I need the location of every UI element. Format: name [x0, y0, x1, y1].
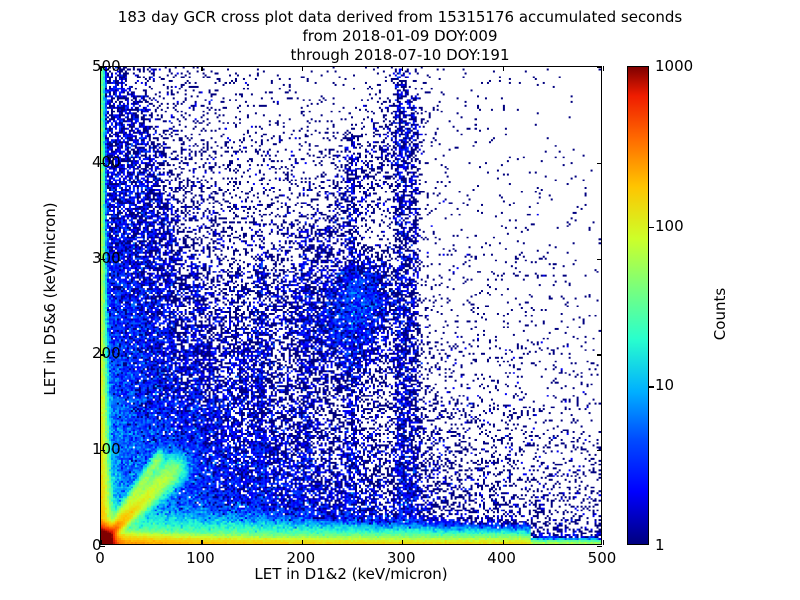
x-tick-bottom [402, 540, 403, 545]
y-tick-right [597, 163, 602, 164]
colorbar [627, 66, 649, 545]
x-tick-top [402, 66, 403, 71]
density-plot-area [101, 67, 601, 544]
y-axis-label: LET in D5&6 (keV/micron) [41, 149, 59, 449]
colorbar-tick [649, 227, 654, 228]
x-tick-bottom [503, 540, 504, 545]
y-tick-right [597, 354, 602, 355]
x-tick-top [503, 66, 504, 71]
density-heatmap-canvas [101, 67, 601, 544]
x-tick-label: 500 [588, 549, 617, 567]
colorbar-tick-label: 1 [655, 536, 665, 554]
plot-title-line-2: from 2018-01-09 DOY:009 [0, 27, 800, 46]
x-tick-label: 200 [286, 549, 315, 567]
colorbar-tick [649, 386, 654, 387]
x-tick-bottom [603, 540, 604, 545]
x-tick-top [201, 66, 202, 71]
x-tick-label: 100 [186, 549, 215, 567]
x-axis-label: LET in D1&2 (keV/micron) [100, 565, 602, 583]
x-tick-label: 400 [487, 549, 516, 567]
figure-canvas: 183 day GCR cross plot data derived from… [0, 0, 800, 600]
y-tick-right [597, 546, 602, 547]
x-tick-bottom [201, 540, 202, 545]
x-tick-label: 300 [387, 549, 416, 567]
x-tick-top [603, 66, 604, 71]
plot-axes [100, 66, 602, 545]
colorbar-title: Counts [711, 194, 729, 434]
y-tick-right [597, 67, 602, 68]
colorbar-tick-label: 10 [655, 376, 674, 394]
y-tick-right [597, 450, 602, 451]
x-tick-top [302, 66, 303, 71]
plot-title-line-1: 183 day GCR cross plot data derived from… [0, 8, 800, 27]
colorbar-tick-label: 1000 [655, 57, 693, 75]
x-tick-bottom [302, 540, 303, 545]
colorbar-tick-label: 100 [655, 217, 684, 235]
y-tick-right [597, 259, 602, 260]
